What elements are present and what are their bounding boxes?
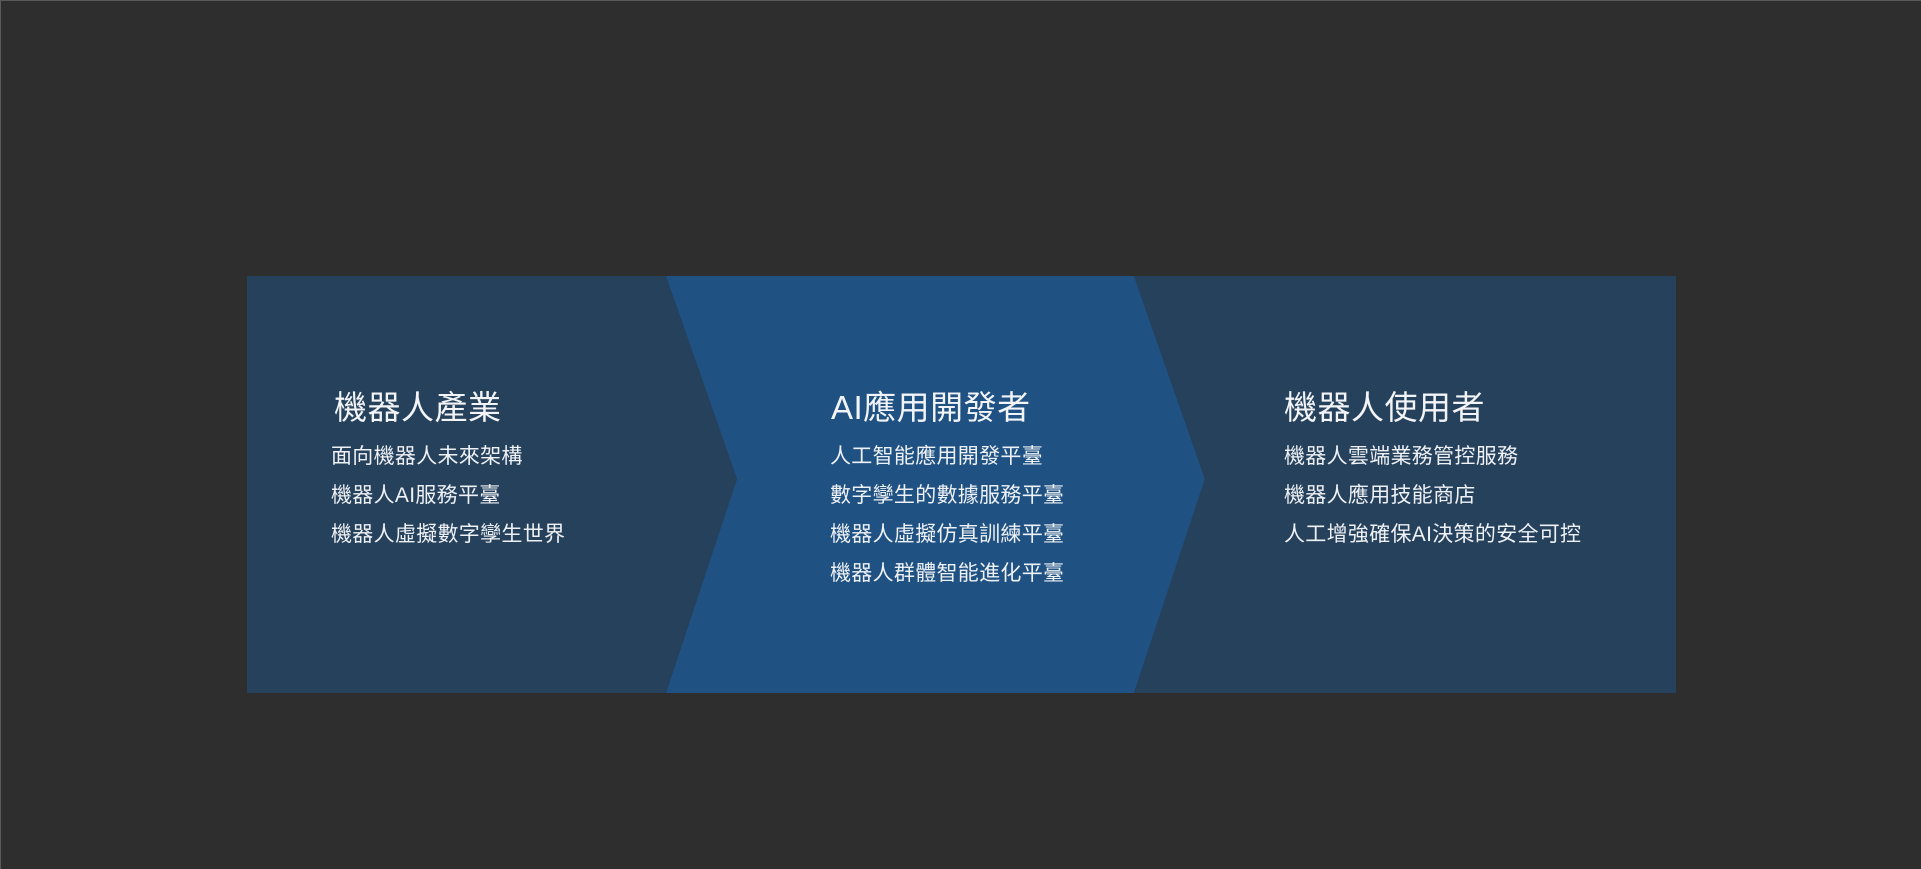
list-item: 人工智能應用開發平臺 [830, 437, 1064, 476]
slide-canvas: 機器人產業 面向機器人未來架構 機器人AI服務平臺 機器人虛擬數字孿生世界 AI… [0, 0, 1921, 869]
stage-1-item-list: 面向機器人未來架構 機器人AI服務平臺 機器人虛擬數字孿生世界 [331, 437, 565, 554]
stage-3-item-list: 機器人雲端業務管控服務 機器人應用技能商店 人工增強確保AI決策的安全可控 [1284, 437, 1581, 554]
stage-2-heading: AI應用開發者 [831, 391, 1031, 424]
stage-3-heading: 機器人使用者 [1284, 391, 1485, 424]
list-item: 機器人應用技能商店 [1284, 476, 1581, 515]
list-item: 機器人虛擬仿真訓練平臺 [830, 515, 1064, 554]
list-item: 面向機器人未來架構 [331, 437, 565, 476]
stage-column-robot-user[interactable]: 機器人使用者 機器人雲端業務管控服務 機器人應用技能商店 人工增強確保AI決策的… [1205, 276, 1676, 693]
stage-1-heading: 機器人產業 [334, 391, 502, 424]
three-stage-chevron-diagram: 機器人產業 面向機器人未來架構 機器人AI服務平臺 機器人虛擬數字孿生世界 AI… [247, 276, 1676, 693]
list-item: 人工增強確保AI決策的安全可控 [1284, 515, 1581, 554]
stage-column-ai-app-developer[interactable]: AI應用開發者 人工智能應用開發平臺 數字孿生的數據服務平臺 機器人虛擬仿真訓練… [737, 276, 1205, 693]
list-item: 機器人AI服務平臺 [331, 476, 565, 515]
stage-column-robot-industry[interactable]: 機器人產業 面向機器人未來架構 機器人AI服務平臺 機器人虛擬數字孿生世界 [247, 276, 737, 693]
list-item: 機器人群體智能進化平臺 [830, 554, 1064, 593]
stage-2-item-list: 人工智能應用開發平臺 數字孿生的數據服務平臺 機器人虛擬仿真訓練平臺 機器人群體… [830, 437, 1064, 593]
list-item: 數字孿生的數據服務平臺 [830, 476, 1064, 515]
list-item: 機器人雲端業務管控服務 [1284, 437, 1581, 476]
list-item: 機器人虛擬數字孿生世界 [331, 515, 565, 554]
